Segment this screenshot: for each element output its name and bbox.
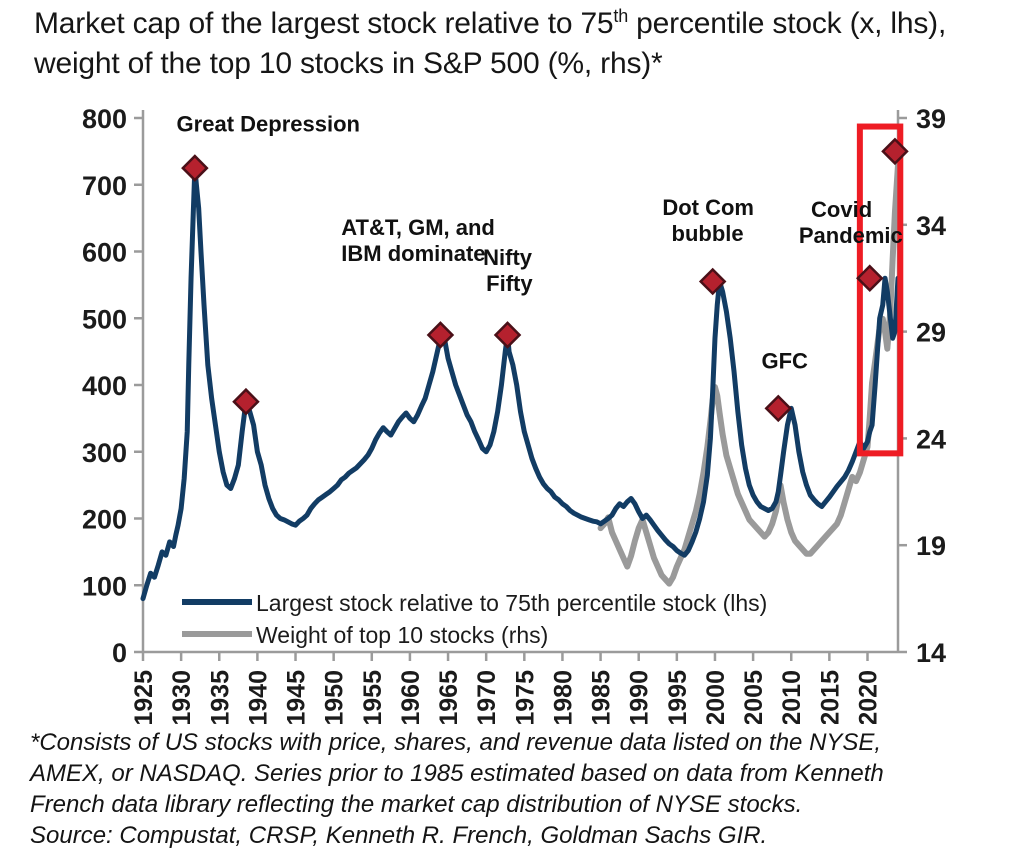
x-axis-label: 1960 xyxy=(397,670,425,724)
right-axis-label: 29 xyxy=(916,318,946,348)
right-axis-label: 39 xyxy=(916,104,946,134)
x-axis-label: 2010 xyxy=(778,670,806,724)
footnote-line-4: Source: Compustat, CRSP, Kenneth R. Fren… xyxy=(30,820,1015,851)
x-axis-label: 1975 xyxy=(511,670,539,724)
peak-marker xyxy=(183,156,207,180)
x-axis-label: 2020 xyxy=(854,670,882,724)
right-axis-label: 24 xyxy=(916,424,946,454)
annotation-att-gm-ibm: AT&T, GM, andIBM dominate xyxy=(341,215,495,266)
x-axis-label: 2000 xyxy=(702,670,730,724)
x-axis-label: 1985 xyxy=(588,670,616,724)
left-axis-label: 100 xyxy=(82,571,127,601)
legend-label-weight-top10: Weight of top 10 stocks (rhs) xyxy=(256,622,548,648)
x-axis-label: 1930 xyxy=(168,670,196,724)
x-axis-label: 1955 xyxy=(359,670,387,724)
annotation-great-depression: Great Depression xyxy=(177,111,360,136)
chart-title: Market cap of the largest stock relative… xyxy=(34,4,1002,84)
annotation-text: GFC xyxy=(761,348,808,373)
chart-footnote: *Consists of US stocks with price, share… xyxy=(30,727,1015,851)
series-line-largest-stock xyxy=(143,168,898,599)
right-axis-label: 34 xyxy=(916,211,946,241)
annotation-text: Covid xyxy=(811,197,872,222)
peak-marker xyxy=(428,323,452,347)
peak-marker xyxy=(766,396,790,420)
peak-marker xyxy=(883,139,907,163)
peak-marker xyxy=(234,390,258,414)
right-axis-label: 14 xyxy=(916,638,946,668)
annotation-text: Pandemic xyxy=(799,223,903,248)
chart-plot-area: 0100200300400500600700800141924293439192… xyxy=(0,104,1024,724)
chart-legend: Largest stock relative to 75th percentil… xyxy=(182,590,767,648)
left-axis-label: 400 xyxy=(82,371,127,401)
left-axis-label: 300 xyxy=(82,438,127,468)
x-axis-label: 1965 xyxy=(435,670,463,724)
annotation-text: Fifty xyxy=(486,271,533,296)
x-axis-label: 1990 xyxy=(626,670,654,724)
footnote-line-2: AMEX, or NASDAQ. Series prior to 1985 es… xyxy=(30,758,1015,789)
x-axis-label: 1935 xyxy=(206,670,234,724)
x-axis-label: 1950 xyxy=(321,670,349,724)
chart-svg: 0100200300400500600700800141924293439192… xyxy=(0,104,1024,724)
legend-label-largest-stock: Largest stock relative to 75th percentil… xyxy=(256,590,767,616)
left-axis-label: 200 xyxy=(82,505,127,535)
annotation-text: Nifty xyxy=(483,245,533,270)
chart-title-line1: Market cap of the largest stock relative… xyxy=(34,7,841,40)
x-axis-label: 2015 xyxy=(816,670,844,724)
annotation-text: Dot Com xyxy=(662,195,754,220)
peak-marker xyxy=(496,323,520,347)
title-superscript: th xyxy=(613,6,628,26)
left-axis-label: 500 xyxy=(82,304,127,334)
footnote-line-1: *Consists of US stocks with price, share… xyxy=(30,727,1015,758)
annotation-text: AT&T, GM, and xyxy=(341,215,495,240)
annotation-text: IBM dominate xyxy=(341,241,485,266)
annotation-text: Great Depression xyxy=(177,111,360,136)
x-axis-label: 1995 xyxy=(664,670,692,724)
annotation-dot-com-bubble: Dot Combubble xyxy=(662,195,754,246)
x-axis-label: 1925 xyxy=(130,670,158,724)
left-axis-label: 0 xyxy=(112,638,127,668)
left-axis-label: 600 xyxy=(82,238,127,268)
footnote-line-3: French data library reflecting the marke… xyxy=(30,789,1015,820)
x-axis-label: 1970 xyxy=(473,670,501,724)
annotation-gfc: GFC xyxy=(761,348,808,373)
x-axis-label: 1940 xyxy=(244,670,272,724)
annotation-text: bubble xyxy=(672,221,744,246)
annotation-covid-pandemic: CovidPandemic xyxy=(799,197,903,248)
x-axis-label: 2005 xyxy=(740,670,768,724)
x-axis-label: 1945 xyxy=(283,670,311,724)
left-axis-label: 800 xyxy=(82,104,127,134)
right-axis-label: 19 xyxy=(916,531,946,561)
x-axis-label: 1980 xyxy=(549,670,577,724)
left-axis-label: 700 xyxy=(82,171,127,201)
annotation-nifty-fifty: NiftyFifty xyxy=(483,245,533,296)
